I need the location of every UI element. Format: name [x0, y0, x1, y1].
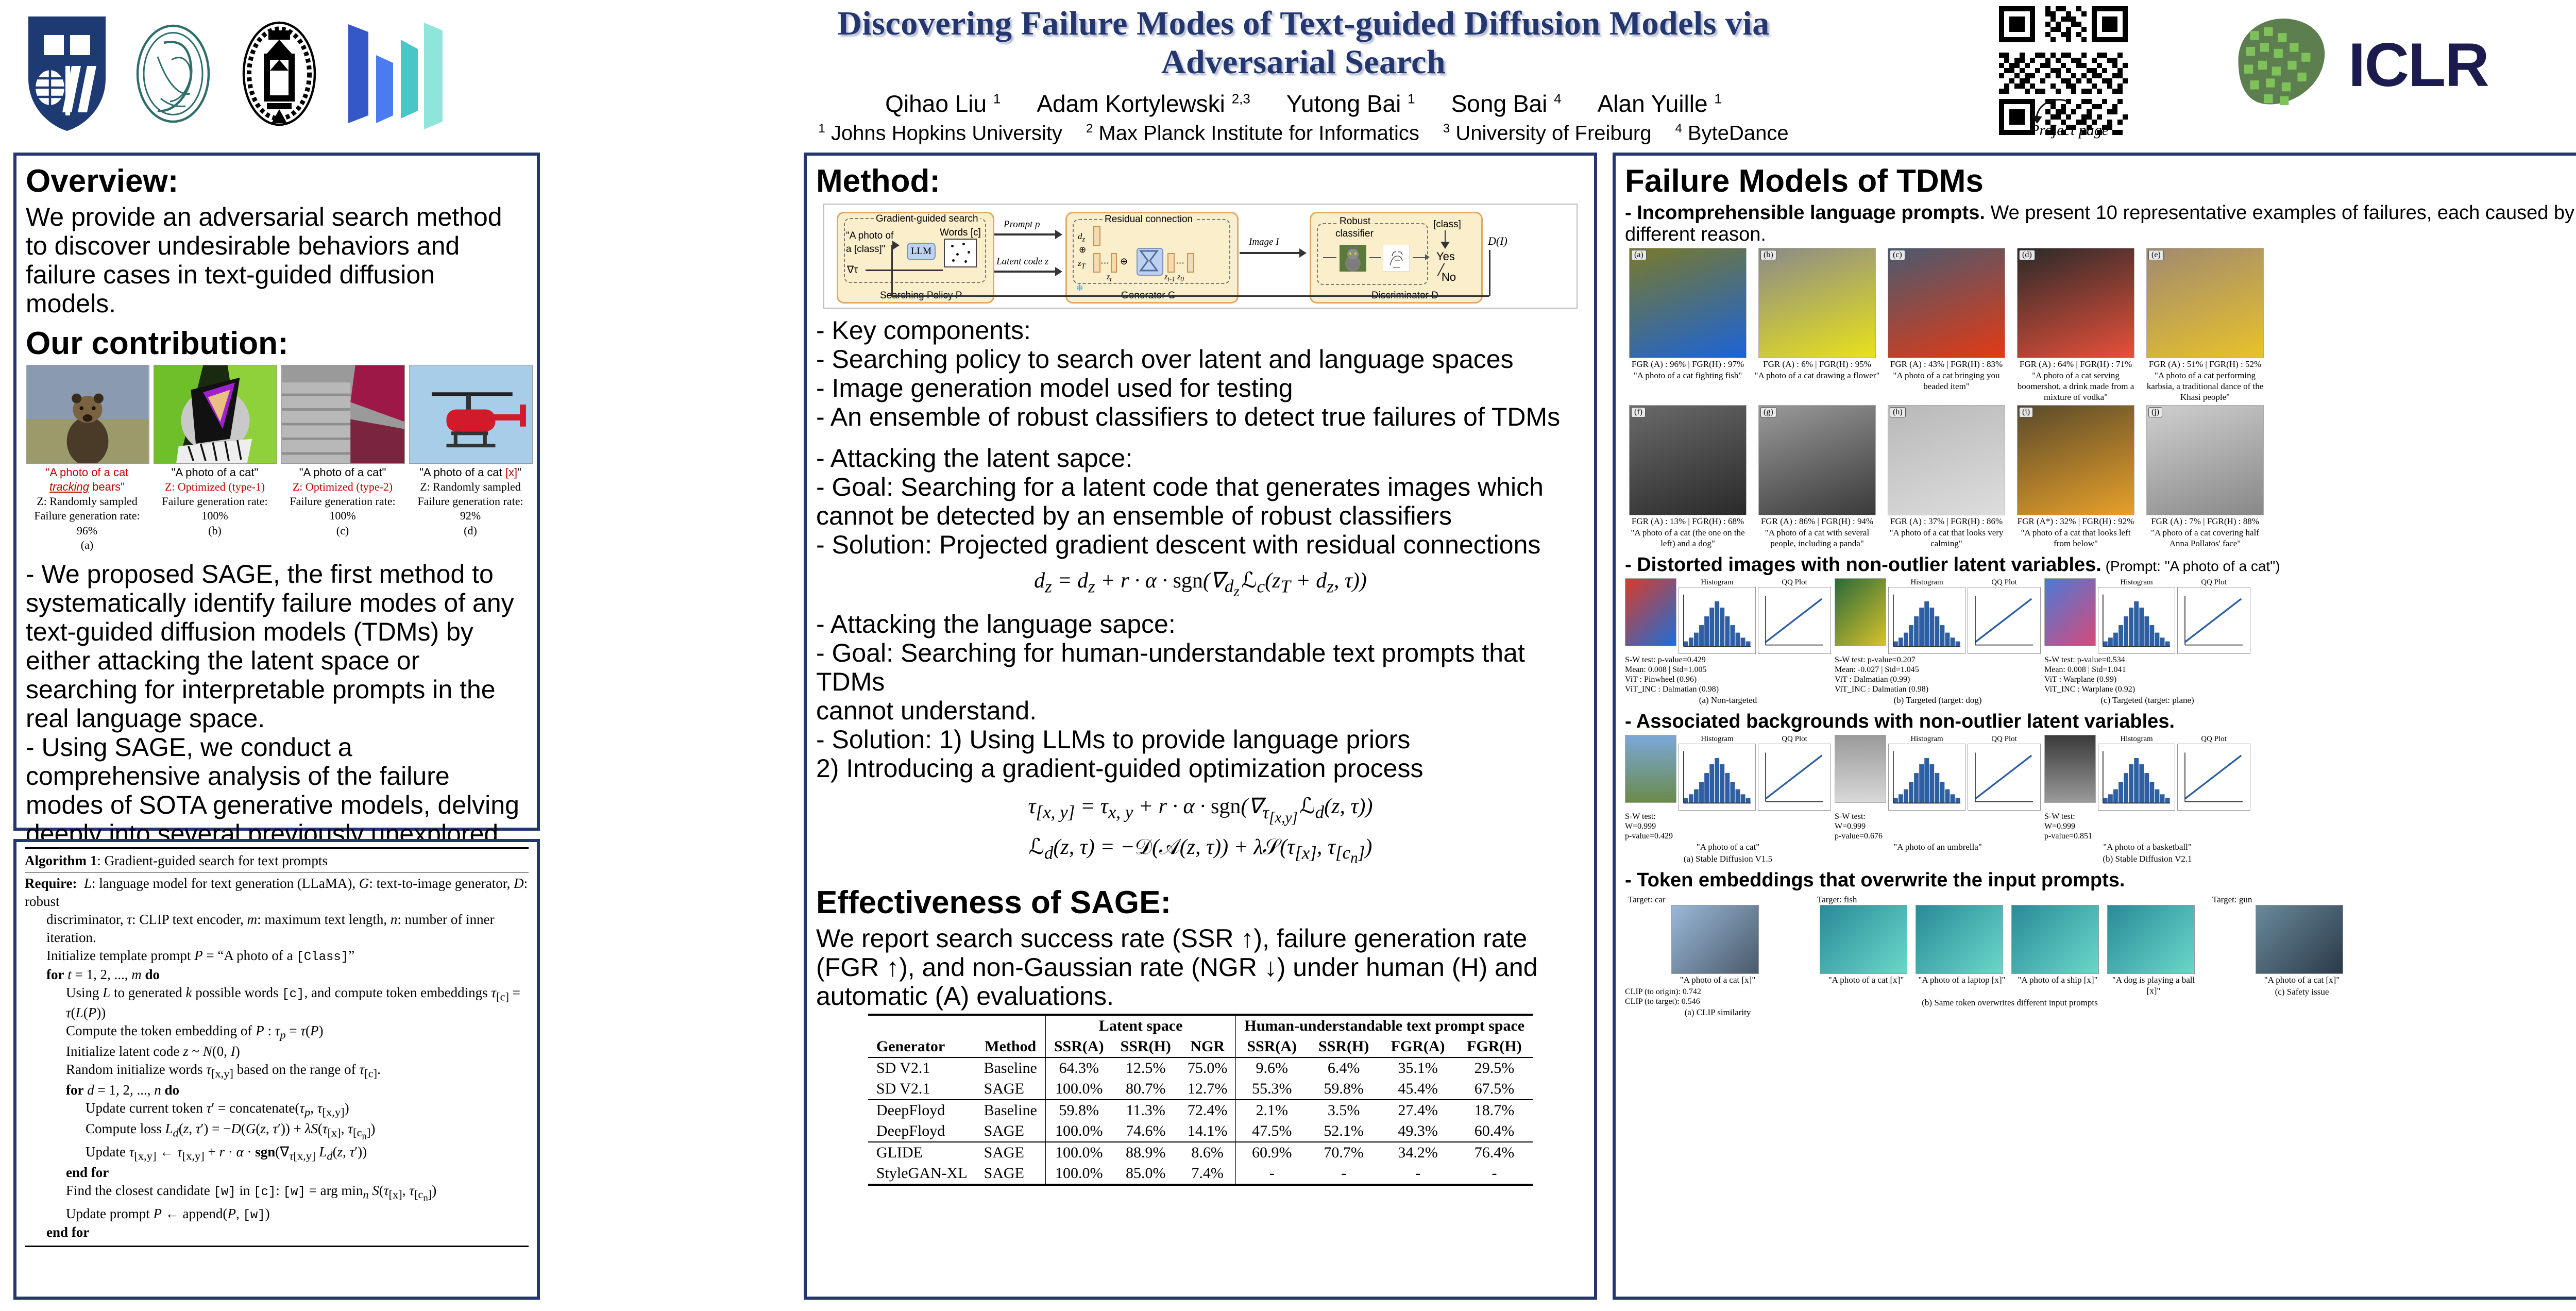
failure-example-tag: (h) — [1890, 407, 1906, 417]
overview-panel: Overview: We provide an adversarial sear… — [13, 153, 540, 831]
algorithm-line: Update τ[x,y] ← τ[x,y] + r · α · sgn(∇τ[… — [25, 1143, 529, 1164]
figure-fgr: Failure generation rate: 100% — [281, 494, 404, 523]
failure-example-tag: (i) — [2019, 407, 2033, 417]
table-cell: Baseline — [976, 1057, 1046, 1079]
table-column-header: FGR(H) — [1456, 1036, 1533, 1057]
table-cell: DeepFloyd — [868, 1121, 976, 1142]
failure-example-image: (g) — [1758, 405, 1876, 515]
table-cell: 47.5% — [1236, 1121, 1308, 1142]
failure-example-caption: "A photo of a cat performing karbsia, a … — [2142, 371, 2268, 402]
contribution-item: "A photo of a cat" Z: Optimized (type-2)… — [281, 365, 404, 552]
figure-caption: "A photo of a cat [x]" Z: Randomly sampl… — [409, 465, 532, 538]
distorted-stats: S-W test: p-value=0.207Mean: -0.027 | St… — [1835, 655, 2041, 695]
failure-example-fgr: FGR (A) : 51% | FGR(H) : 52% — [2142, 359, 2268, 370]
table-cell: 72.4% — [1179, 1100, 1236, 1121]
failure-example-tag: (f) — [1631, 407, 1646, 417]
failure-example-image: (h) — [1888, 405, 2005, 515]
table-group-header-row: Latent space Human-understandable text p… — [868, 1015, 1533, 1036]
failure-example-caption: "A photo of a cat covering half Anna Pol… — [2142, 528, 2268, 549]
table-cell: 12.7% — [1179, 1079, 1236, 1100]
algorithm-line: discriminator, τ: CLIP text encoder, m: … — [25, 911, 529, 947]
background-example-cell: HistogramQQ PlotS-W test:W=0.999p-value=… — [1835, 735, 2041, 865]
token-caption: "A photo of a cat [x]" — [2256, 975, 2348, 986]
robust-classifier-label-1: Robust — [1337, 216, 1372, 227]
table-cell: 85.0% — [1112, 1163, 1179, 1185]
token-caption: "A photo of a cat [x]" — [1671, 975, 1764, 986]
group-header-latent: Latent space — [1045, 1015, 1236, 1036]
histogram-title: Histogram — [2098, 578, 2175, 587]
failure-example-fgr: FGR (A) : 7% | FGR(H) : 88% — [2142, 516, 2268, 527]
algorithm-line: Compute the token embedding of P : τp = … — [25, 1022, 529, 1043]
table-cell: 55.3% — [1236, 1079, 1308, 1100]
table-cell: 8.6% — [1179, 1142, 1236, 1163]
table-column-header: Generator — [868, 1036, 976, 1057]
no-label: No — [1442, 271, 1456, 284]
failure-example-image: (a) — [1629, 248, 1747, 358]
failure-example-fgr: FGR (A) : 13% | FGR(H) : 68% — [1625, 516, 1751, 527]
failures-heading: Failure Models of TDMs — [1625, 163, 2576, 199]
algorithm-line: Find the closest candidate [w] in [c]: [… — [25, 1182, 529, 1205]
table-cell: 74.6% — [1112, 1121, 1179, 1142]
table-column-header: SSR(H) — [1112, 1036, 1179, 1057]
method-latent-attack: - Attacking the latent sapce: - Goal: Se… — [816, 444, 1585, 559]
table-cell: 49.3% — [1380, 1121, 1455, 1142]
qq-title: QQ Plot — [1968, 735, 2041, 744]
algorithm-line: Initialize template prompt P = “A photo … — [25, 947, 529, 965]
algorithm-line: Random initialize words τ[x,y] based on … — [25, 1061, 529, 1081]
distorted-stats: S-W test: p-value=0.534Mean: 0.008 | Std… — [2044, 655, 2250, 695]
iclr-mark-icon — [2221, 9, 2339, 120]
token-caption: "A dog is playing a ball [x]" — [2107, 975, 2200, 996]
failure-example-caption: "A photo of a cat serving boomershot, a … — [2013, 371, 2139, 402]
affiliation: 4 ByteDance — [1675, 122, 1788, 145]
algorithm-title-rest: : Gradient-guided search for text prompt… — [97, 853, 328, 868]
institution-logos — [21, 9, 447, 138]
table-row: StyleGAN-XLSAGE100.0%85.0%7.4%---- — [868, 1163, 1533, 1185]
algorithm-body: Algorithm 1: Gradient-guided search for … — [16, 842, 537, 1252]
class-input-label: [class] — [1433, 219, 1461, 230]
edge-latent-label: Latent code z — [996, 256, 1048, 267]
grad-tau-label: ∇τ — [847, 263, 858, 276]
equation-language-2: ℒd(z, τ) = −𝒟(𝒜(z, τ)) + λ𝒮(τ[x], τ[cn]) — [816, 834, 1585, 867]
background-prompt: "A photo of a cat" — [1625, 842, 1831, 853]
table-cell: 29.5% — [1456, 1057, 1533, 1079]
background-tag: (b) Stable Diffusion V2.1 — [2044, 854, 2250, 865]
contribution-bullet-1: - We proposed SAGE, the first method to … — [26, 560, 528, 733]
bytedance-logo-icon — [339, 12, 447, 136]
table-cell: 70.7% — [1308, 1142, 1380, 1163]
failure-example-cell: (d)FGR (A) : 64% | FGR(H) : 71%"A photo … — [2013, 248, 2139, 403]
background-image — [1625, 735, 1676, 803]
failure-example-image: (c) — [1888, 248, 2005, 358]
frozen-snowflake-icon: ❄ — [1076, 283, 1083, 294]
distorted-stats: S-W test: p-value=0.429Mean: 0.008 | Std… — [1625, 655, 1831, 695]
histogram-title: Histogram — [1679, 735, 1756, 744]
table-column-header: Method — [976, 1036, 1046, 1057]
failure-example-fgr: FGR (A) : 43% | FGR(H) : 83% — [1884, 359, 2009, 370]
affiliation: 1 Johns Hopkins University — [818, 122, 1062, 145]
failure-examples-row-1: (a)FGR (A) : 96% | FGR(H) : 97%"A photo … — [1625, 248, 2576, 403]
table-cell: 75.0% — [1179, 1057, 1236, 1079]
distorted-images-row: HistogramQQ PlotS-W test: p-value=0.429M… — [1625, 578, 2576, 706]
figure-prompt: "A photo of a cat" — [281, 465, 404, 480]
poster-title-line1: Discovering Failure Modes of Text-guided… — [659, 4, 1947, 43]
effectiveness-heading: Effectiveness of SAGE: — [816, 884, 1585, 921]
failure-example-caption: "A photo of a cat that looks left from b… — [2013, 528, 2139, 549]
contribution-item: "A photo of a cat" Z: Optimized (type-1)… — [154, 365, 276, 552]
qq-title: QQ Plot — [1758, 578, 1831, 587]
table-column-header: SSR(H) — [1308, 1036, 1380, 1057]
token-image — [2107, 905, 2195, 974]
author-name: Qihao Liu 1 — [885, 90, 1001, 117]
table-cell: 80.7% — [1112, 1079, 1179, 1100]
table-body: SD V2.1Baseline64.3%12.5%75.0%9.6%6.4%35… — [868, 1057, 1533, 1185]
figure-adversarial-type2-image — [281, 365, 405, 464]
histogram-title: Histogram — [1888, 578, 1965, 587]
distorted-tag: (a) Non-targeted — [1625, 695, 1831, 706]
table-cell: 6.4% — [1308, 1057, 1380, 1079]
qq-title: QQ Plot — [1758, 735, 1831, 744]
token-tag: (b) Same token overwrites different inpu… — [1814, 998, 2206, 1009]
table-cell: 100.0% — [1045, 1142, 1112, 1163]
figure-caption: "A photo of a cat" Z: Optimized (type-2)… — [281, 465, 404, 538]
failure-example-image: (j) — [2146, 405, 2264, 515]
zT-label: zT — [1078, 258, 1086, 271]
token-clip-stats: CLIP (to origin): 0.742CLIP (to target):… — [1625, 987, 1810, 1006]
failure-example-image: (i) — [2017, 405, 2134, 515]
zt-label: zt — [1107, 273, 1112, 283]
table-row: SD V2.1Baseline64.3%12.5%75.0%9.6%6.4%35… — [868, 1057, 1533, 1079]
table-cell: 7.4% — [1179, 1163, 1236, 1185]
table-cell: SD V2.1 — [868, 1057, 976, 1079]
qq-title: QQ Plot — [1968, 578, 2041, 587]
table-cell: 18.7% — [1456, 1100, 1533, 1121]
project-page-label[interactable]: Project page — [2030, 122, 2109, 139]
table-column-header: NGR — [1179, 1036, 1236, 1057]
figure-fgr: Failure generation rate: 100% — [154, 494, 276, 523]
table-cell: 76.4% — [1456, 1142, 1533, 1163]
jhu-logo-icon — [21, 12, 113, 136]
table-cell: GLIDE — [868, 1142, 976, 1163]
background-image — [2044, 735, 2096, 803]
failure-example-image: (e) — [2146, 248, 2264, 358]
table-cell: 100.0% — [1045, 1163, 1112, 1185]
edge-prompt-label: Prompt p — [1004, 219, 1040, 230]
plus-symbol-icon: ⊕ — [1079, 245, 1086, 255]
histogram-plot — [2098, 587, 2175, 654]
failures-section1-bullet: - Incomprehensible language prompts. We … — [1625, 203, 2576, 246]
failure-example-caption: "A photo of a cat fighting fish" — [1625, 371, 1751, 381]
table-cell: 45.4% — [1380, 1079, 1455, 1100]
results-table: Latent space Human-understandable text p… — [868, 1014, 1533, 1186]
histogram-title: Histogram — [1888, 735, 1965, 744]
qq-plot — [1968, 587, 2041, 654]
table-cell: 59.8% — [1045, 1100, 1112, 1121]
table-cell: Baseline — [976, 1100, 1046, 1121]
dz-label: dz — [1078, 231, 1085, 244]
distorted-tag: (c) Targeted (target: plane) — [2044, 695, 2250, 706]
author-list: Qihao Liu 1Adam Kortylewski 2,3Yutong Ba… — [659, 90, 1947, 117]
table-cell: 64.3% — [1045, 1057, 1112, 1079]
failure-example-tag: (a) — [1631, 250, 1647, 260]
method-diagram: Gradient-guided search "A photo of a [cl… — [823, 204, 1578, 309]
equation-latent: dz = dz + r · α · sgn(∇dz ℒc(zT + dz, τ)… — [816, 567, 1585, 600]
method-key-components: - Key components: - Searching policy to … — [816, 316, 1585, 431]
background-stats: S-W test:W=0.999p-value=0.676 — [1835, 812, 2041, 842]
distorted-tag: (b) Targeted (target: dog) — [1835, 695, 2041, 706]
algorithm-line: for t = 1, 2, ..., m do — [25, 966, 529, 984]
token-image — [1820, 905, 1907, 974]
iclr-logo: ICLR — [2221, 9, 2488, 120]
failure-example-caption: "A photo of a cat (the one on the left) … — [1625, 528, 1751, 549]
failure-example-caption: "A photo of a cat with several people, i… — [1754, 528, 1880, 549]
algorithm-line: Compute loss Ld(z, τ′) = −D(G(z, τ′)) + … — [25, 1120, 529, 1143]
algorithm-line: end for — [25, 1223, 529, 1241]
failure-example-tag: (e) — [2148, 250, 2164, 260]
algorithm-title-bold: Algorithm 1 — [25, 853, 97, 868]
sum-node-icon: ⊕ — [1120, 256, 1128, 267]
distorted-example-cell: HistogramQQ PlotS-W test: p-value=0.534M… — [2044, 578, 2250, 706]
histogram-title: Histogram — [1679, 578, 1756, 587]
prompt-text-line1: "A photo of — [846, 230, 893, 242]
table-row: DeepFloydSAGE100.0%74.6%14.1%47.5%52.1%4… — [868, 1121, 1533, 1142]
table-cell: 11.3% — [1112, 1100, 1179, 1121]
figure-fgr: Failure generation rate: 92% — [409, 494, 532, 523]
group-header-text: Human-understandable text prompt space — [1236, 1015, 1533, 1036]
token-caption: "A photo of a cat [x]" — [1820, 975, 1912, 986]
words-scatter-box — [944, 239, 977, 267]
table-cell: 100.0% — [1045, 1079, 1112, 1100]
histogram-plot — [1888, 587, 1965, 654]
affiliation: 2 Max Planck Institute for Informatics — [1086, 122, 1419, 145]
figure-z: Z: Optimized (type-2) — [281, 480, 404, 494]
failure-example-cell: (a)FGR (A) : 96% | FGR(H) : 97%"A photo … — [1625, 248, 1751, 403]
failure-example-caption: "A photo of a cat drawing a flower" — [1754, 371, 1880, 381]
qq-plot — [1758, 744, 1831, 811]
token-tag: (a) CLIP similarity — [1625, 1007, 1810, 1018]
table-cell: 3.5% — [1308, 1100, 1380, 1121]
table-cell: 67.5% — [1456, 1079, 1533, 1100]
poster-root: Discovering Failure Modes of Text-guided… — [0, 0, 2576, 1311]
table-cell: StyleGAN-XL — [868, 1163, 976, 1185]
failure-example-tag: (j) — [2148, 407, 2162, 417]
failure-example-image: (d) — [2017, 248, 2134, 358]
figure-z: Z: Optimized (type-1) — [154, 480, 276, 494]
table-column-header: SSR(A) — [1045, 1036, 1112, 1057]
method-panel: Method: Gradient-guided search "A photo … — [804, 153, 1597, 1300]
figure-prompt: "A photo of a cat" — [154, 465, 276, 480]
table-cell: 14.1% — [1179, 1121, 1236, 1142]
effectiveness-text: We report search success rate (SSR ↑), f… — [816, 924, 1585, 1011]
distorted-example-cell: HistogramQQ PlotS-W test: p-value=0.207M… — [1835, 578, 2041, 706]
table-row: SD V2.1SAGE100.0%80.7%12.7%55.3%59.8%45.… — [868, 1079, 1533, 1100]
failure-example-fgr: FGR (A) : 37% | FGR(H) : 86% — [1884, 516, 2009, 527]
failure-modes-panel: Failure Models of TDMs - Incomprehensibl… — [1613, 153, 2576, 1300]
table-cell: 12.5% — [1112, 1057, 1179, 1079]
table-cell: DeepFloyd — [868, 1100, 976, 1121]
poster-title-line2: Adversarial Search — [659, 43, 1947, 81]
token-image — [2256, 905, 2343, 974]
algorithm-line: Initialize latent code z ~ N(0, I) — [25, 1043, 529, 1061]
table-cell: 88.9% — [1112, 1142, 1179, 1163]
token-target-label: Target: gun — [2209, 895, 2395, 905]
failure-example-fgr: FGR (A) : 86% | FGR(H) : 94% — [1754, 516, 1880, 527]
failure-example-cell: (g)FGR (A) : 86% | FGR(H) : 94%"A photo … — [1754, 405, 1880, 549]
table-cell: 60.4% — [1456, 1121, 1533, 1142]
words-label: Words [c] — [940, 227, 981, 239]
histogram-plot — [1679, 587, 1756, 654]
overview-heading: Overview: — [26, 163, 528, 199]
token-image — [2011, 905, 2099, 974]
table-column-header: FGR(A) — [1380, 1036, 1455, 1057]
zt1-label: zt-1 z0 — [1164, 273, 1184, 283]
table-cell: 27.4% — [1380, 1100, 1455, 1121]
failure-example-tag: (b) — [1760, 250, 1776, 260]
qq-plot — [1968, 744, 2041, 811]
background-prompt: "A photo of a basketball" — [2044, 842, 2250, 853]
failure-example-caption: "A photo of a cat bringing you beaded it… — [1884, 371, 2009, 392]
distorted-image — [2044, 578, 2096, 646]
table-cell: 100.0% — [1045, 1121, 1112, 1142]
table-cell: - — [1308, 1163, 1380, 1185]
associated-backgrounds-row: HistogramQQ PlotS-W test:W=0.999p-value=… — [1625, 735, 2576, 865]
table-cell: SAGE — [976, 1121, 1046, 1142]
failure-example-image: (f) — [1629, 405, 1747, 515]
figure-helicopter-image — [409, 365, 533, 464]
failure-example-caption: "A photo of a cat that looks very calmin… — [1884, 528, 2009, 549]
llm-block: LLM — [907, 243, 936, 260]
figure-adversarial-type1-image — [154, 365, 277, 464]
author-name: Adam Kortylewski 2,3 — [1037, 90, 1250, 117]
algorithm-line: for d = 1, 2, ..., n do — [25, 1081, 529, 1099]
qq-title: QQ Plot — [2177, 578, 2250, 587]
classifier-feature-image — [1383, 245, 1410, 272]
yes-label: Yes — [1436, 250, 1455, 263]
algorithm-line: Require: L: language model for text gene… — [25, 875, 529, 911]
discriminator-output-label: D(I) — [1488, 234, 1507, 248]
failure-example-image: (b) — [1758, 248, 1876, 358]
contribution-heading: Our contribution: — [26, 325, 528, 362]
failure-example-tag: (d) — [2019, 250, 2035, 260]
algorithm-lines: Require: L: language model for text gene… — [25, 875, 529, 1241]
token-caption: "A photo of a laptop [x]" — [1916, 975, 2008, 986]
figure-caption: "A photo of a cat tracking bears" Z: Ran… — [26, 465, 148, 552]
algorithm-line: Using L to generated k possible words [c… — [25, 984, 529, 1022]
distorted-image — [1625, 578, 1676, 646]
affiliation-list: 1 Johns Hopkins University2 Max Planck I… — [659, 122, 1947, 145]
overview-text: We provide an adversarial search method … — [26, 203, 528, 318]
qq-plot — [1758, 587, 1831, 654]
iclr-wordmark: ICLR — [2348, 29, 2488, 100]
gradient-search-label: Gradient-guided search — [874, 213, 980, 225]
histogram-plot — [1679, 744, 1756, 811]
token-group: Target: gun"A photo of a cat [x]"(c) Saf… — [2209, 894, 2395, 1019]
failure-examples-row-2: (f)FGR (A) : 13% | FGR(H) : 68%"A photo … — [1625, 405, 2576, 549]
failure-example-tag: (g) — [1760, 407, 1776, 417]
failure-example-cell: (f)FGR (A) : 13% | FGR(H) : 68%"A photo … — [1625, 405, 1751, 549]
failure-example-cell: (c)FGR (A) : 43% | FGR(H) : 83%"A photo … — [1884, 248, 2009, 403]
token-target-label: Target: fish — [1814, 895, 2206, 905]
author-name: Yutong Bai 1 — [1286, 90, 1415, 117]
failures-section4-bullet: - Token embeddings that overwrite the in… — [1625, 870, 2576, 892]
table-column-header: SSR(A) — [1236, 1036, 1308, 1057]
failures-section2-bullet: - Distorted images with non-outlier late… — [1625, 554, 2576, 576]
figure-tag: (d) — [409, 524, 532, 538]
affiliation: 3 University of Freiburg — [1443, 122, 1652, 145]
token-caption: "A photo of a ship [x]" — [2011, 975, 2104, 986]
table-cell: 2.1% — [1236, 1100, 1308, 1121]
failure-example-cell: (j)FGR (A) : 7% | FGR(H) : 88%"A photo o… — [2142, 405, 2268, 549]
histogram-plot — [1888, 744, 1965, 811]
token-group: Target: fish"A photo of a cat [x]""A pho… — [1814, 894, 2206, 1019]
token-tag: (c) Safety issue — [2209, 987, 2395, 998]
failure-example-cell: (i)FGR (A*) : 32% | FGR(H) : 92%"A photo… — [2013, 405, 2139, 549]
background-image — [1835, 735, 1886, 803]
figure-prompt: "A photo of a cat [x]" — [409, 465, 532, 480]
classifier-cat-image — [1340, 245, 1366, 272]
robust-classifier-label-2: classifier — [1333, 228, 1376, 240]
table-cell: 35.1% — [1380, 1057, 1455, 1079]
distorted-example-cell: HistogramQQ PlotS-W test: p-value=0.429M… — [1625, 578, 1831, 706]
poster-header: Discovering Failure Modes of Text-guided… — [0, 0, 2576, 155]
table-cell: 59.8% — [1308, 1079, 1380, 1100]
max-planck-logo-icon — [127, 12, 219, 136]
algorithm-line: Update current token τ′ = concatenate(τp… — [25, 1099, 529, 1120]
histogram-plot — [2098, 744, 2175, 811]
table-cell: - — [1456, 1163, 1533, 1185]
author-name: Alan Yuille 1 — [1598, 90, 1722, 117]
table-row: DeepFloydBaseline59.8%11.3%72.4%2.1%3.5%… — [868, 1100, 1533, 1121]
freiburg-logo-icon — [233, 12, 326, 136]
figure-caption: "A photo of a cat" Z: Optimized (type-1)… — [154, 465, 276, 538]
distorted-image — [1835, 578, 1886, 646]
qq-plot — [2177, 587, 2250, 654]
algorithm-line: Update prompt P ← append(P, [w]) — [25, 1205, 529, 1223]
failure-example-cell: (h)FGR (A) : 37% | FGR(H) : 86%"A photo … — [1884, 405, 2009, 549]
failure-example-fgr: FGR (A) : 96% | FGR(H) : 97% — [1625, 359, 1751, 370]
figure-tag: (a) — [26, 538, 148, 552]
table-cell: 9.6% — [1236, 1057, 1308, 1079]
table-cell: SAGE — [976, 1163, 1046, 1185]
figure-tag: (c) — [281, 524, 404, 538]
background-tag: (a) Stable Diffusion V1.5 — [1625, 854, 1831, 865]
failure-example-fgr: FGR (A*) : 32% | FGR(H) : 92% — [2013, 516, 2139, 527]
failure-example-cell: (e)FGR (A) : 51% | FGR(H) : 52%"A photo … — [2142, 248, 2268, 403]
token-target-label: Target: car — [1625, 895, 1810, 905]
edge-image-label: Image I — [1249, 237, 1279, 248]
method-heading: Method: — [816, 163, 1585, 199]
table-cell: SAGE — [976, 1142, 1046, 1163]
background-prompt: "A photo of an umbrella" — [1835, 842, 2041, 853]
qq-title: QQ Plot — [2177, 735, 2250, 744]
qq-plot — [2177, 744, 2250, 811]
table-cell: SD V2.1 — [868, 1079, 976, 1100]
author-name: Song Bai 4 — [1451, 90, 1562, 117]
token-image — [1916, 905, 2003, 974]
table-row: GLIDESAGE100.0%88.9%8.6%60.9%70.7%34.2%7… — [868, 1142, 1533, 1163]
figure-tag: (b) — [154, 524, 276, 538]
figure-z: Z: Randomly sampled — [409, 480, 532, 494]
table-column-header-row: GeneratorMethodSSR(A)SSR(H)NGRSSR(A)SSR(… — [868, 1036, 1533, 1057]
token-embeddings-row: Target: car"A photo of a cat [x]"CLIP (t… — [1625, 894, 2576, 1019]
failures-section3-bullet: - Associated backgrounds with non-outlie… — [1625, 711, 2576, 733]
token-group: Target: car"A photo of a cat [x]"CLIP (t… — [1625, 894, 1810, 1019]
failure-example-fgr: FGR (A) : 64% | FGR(H) : 71% — [2013, 359, 2139, 370]
contribution-figures: "A photo of a cat tracking bears" Z: Ran… — [26, 365, 528, 552]
figure-z: Z: Randomly sampled — [26, 494, 148, 509]
equation-language-1: τ[x, y] = τx, y + r · α · sgn(∇τ[x,y] ℒd… — [816, 793, 1585, 826]
title-block: Discovering Failure Modes of Text-guided… — [659, 4, 1947, 145]
